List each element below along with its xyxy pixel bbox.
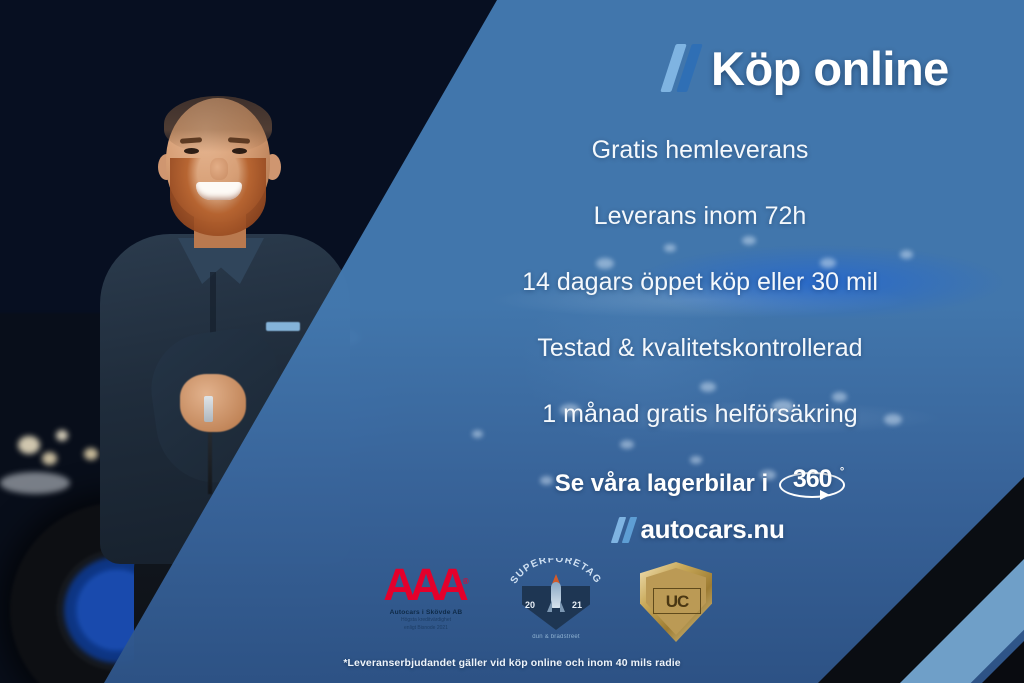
website-url[interactable]: autocars.nu [640, 514, 784, 545]
cta-lead-text: Se våra lagerbilar i [555, 470, 768, 498]
list-item: Testad & kvalitetskontrollerad [440, 336, 960, 361]
uc-text: UC [666, 593, 689, 610]
website-link[interactable]: autocars.nu [440, 514, 960, 545]
aaa-sub-line-2: enligt Bisnode 2021 [366, 625, 486, 632]
aaa-sub-line-1: Högsta kreditvärdighet [366, 617, 486, 624]
page-title: Köp online [711, 45, 949, 92]
aaa-letters: AAA® [366, 564, 486, 607]
list-item: 14 dagars öppet köp eller 30 mil [440, 270, 960, 295]
superforetag-2021-logo: SUPERFÖRETAG 20 21 dun & bradstreet [502, 556, 610, 648]
badge-number: 360 [779, 465, 845, 494]
promo-banner: Köp online Gratis hemleverans Leverans i… [0, 0, 1024, 683]
uc-sigill-logo: UC [640, 562, 712, 642]
double-slash-logo-icon [660, 44, 703, 92]
registered-mark: ® [463, 577, 469, 586]
uc-text-frame: UC [653, 588, 701, 614]
cta-headline: Se våra lagerbilar i 360 ° [440, 466, 960, 502]
double-slash-logo-icon [611, 517, 637, 543]
footnote-disclaimer: *Leveranserbjudandet gäller vid köp onli… [0, 657, 1024, 669]
year-suffix: 21 [572, 600, 582, 610]
aaa-letters-text: AAA [383, 559, 463, 610]
rotate-360-icon: 360 ° [779, 466, 845, 502]
list-item: Gratis hemleverans [440, 138, 960, 163]
header: Köp online [668, 44, 949, 92]
orbit-arrowhead [820, 490, 830, 500]
promo-content: Köp online Gratis hemleverans Leverans i… [0, 0, 1024, 683]
issuer-name: dun & bradstreet [516, 634, 596, 640]
list-item: 1 månad gratis helförsäkring [440, 402, 960, 427]
certification-logos: AAA® Autocars i Skövde AB Högsta kreditv… [352, 556, 732, 650]
cta-block[interactable]: Se våra lagerbilar i 360 ° autocars.nu [440, 466, 960, 545]
degree-symbol: ° [840, 466, 844, 478]
rocket-body [551, 582, 561, 608]
benefit-list: Gratis hemleverans Leverans inom 72h 14 … [440, 138, 960, 468]
rocket-icon [548, 574, 564, 620]
list-item: Leverans inom 72h [440, 204, 960, 229]
aaa-credit-rating-logo: AAA® Autocars i Skövde AB Högsta kreditv… [366, 564, 486, 632]
year-prefix: 20 [525, 600, 535, 610]
